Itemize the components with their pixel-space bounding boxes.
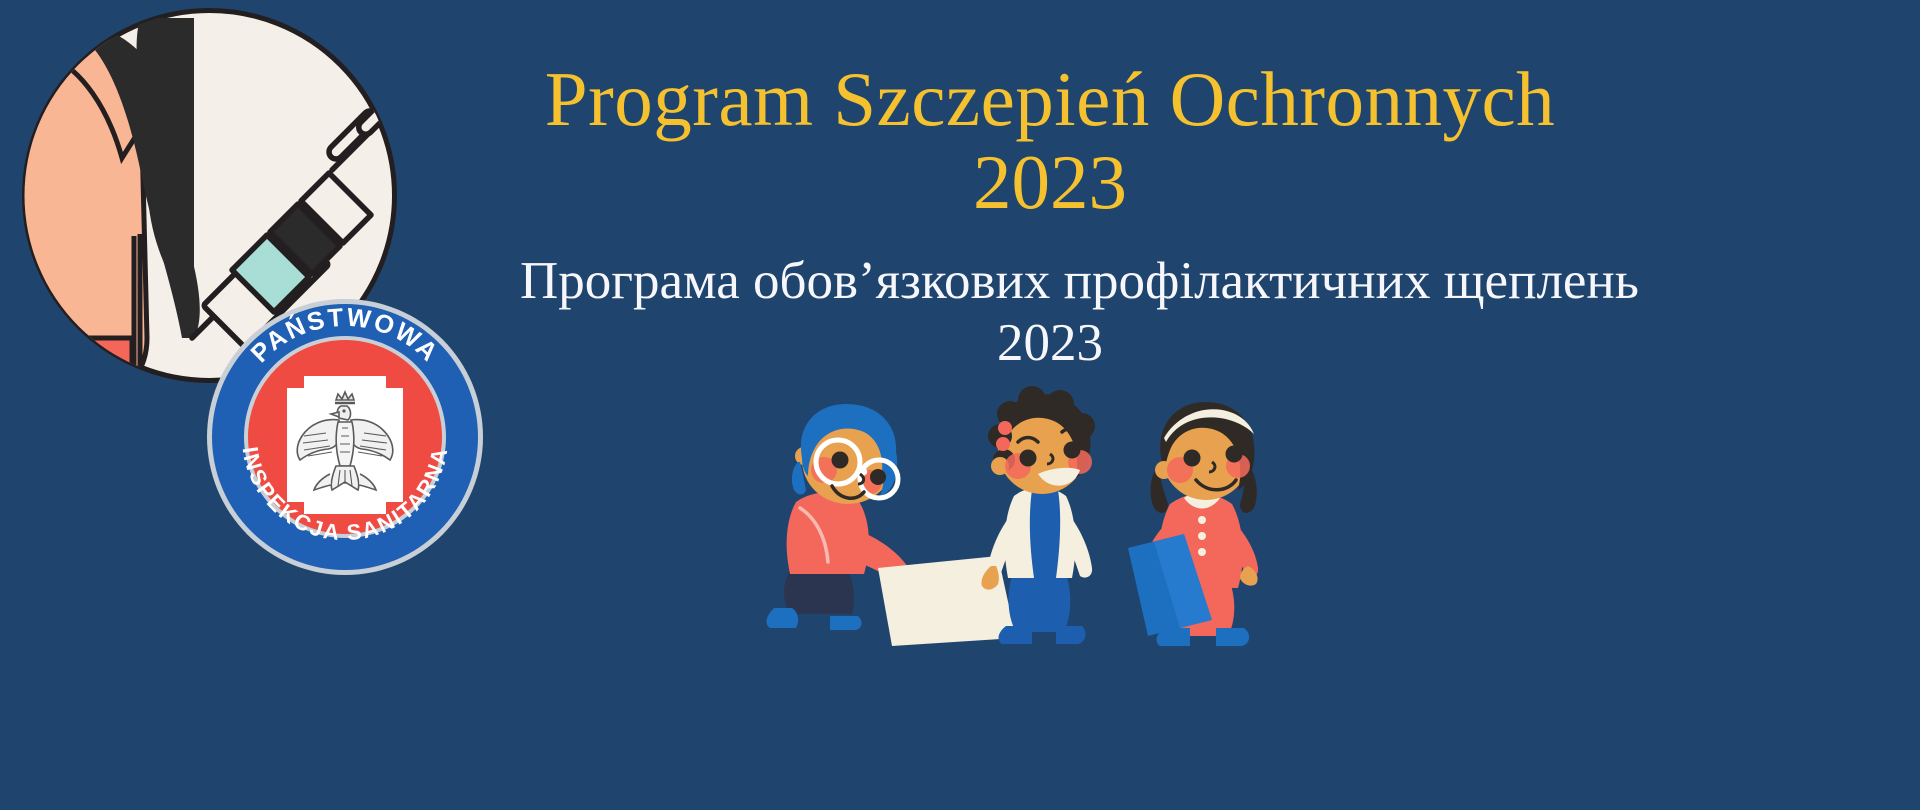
child-right [1128,402,1258,646]
hair-tie [996,437,1010,451]
subtitle-year: 2023 [520,309,1580,378]
subtitle-ukrainian: Програма обов’язкових профілактичних щеп… [520,253,1580,309]
title-year: 2023 [520,139,1580,225]
vaccination-program-banner: PAŃSTWOWA INSPEKCJA SANITARNA Program Sz… [0,0,1920,810]
sanitary-inspection-seal: PAŃSTWOWA INSPEKCJA SANITARNA [204,296,486,578]
shirt-shape [22,338,132,383]
three-children-reading-illustration [760,370,1340,650]
headline-block: Program Szczepień Ochronnych 2023 Програ… [520,60,1580,378]
title-polish: Program Szczepień Ochronnych [520,60,1580,139]
hair-tie [998,421,1012,435]
